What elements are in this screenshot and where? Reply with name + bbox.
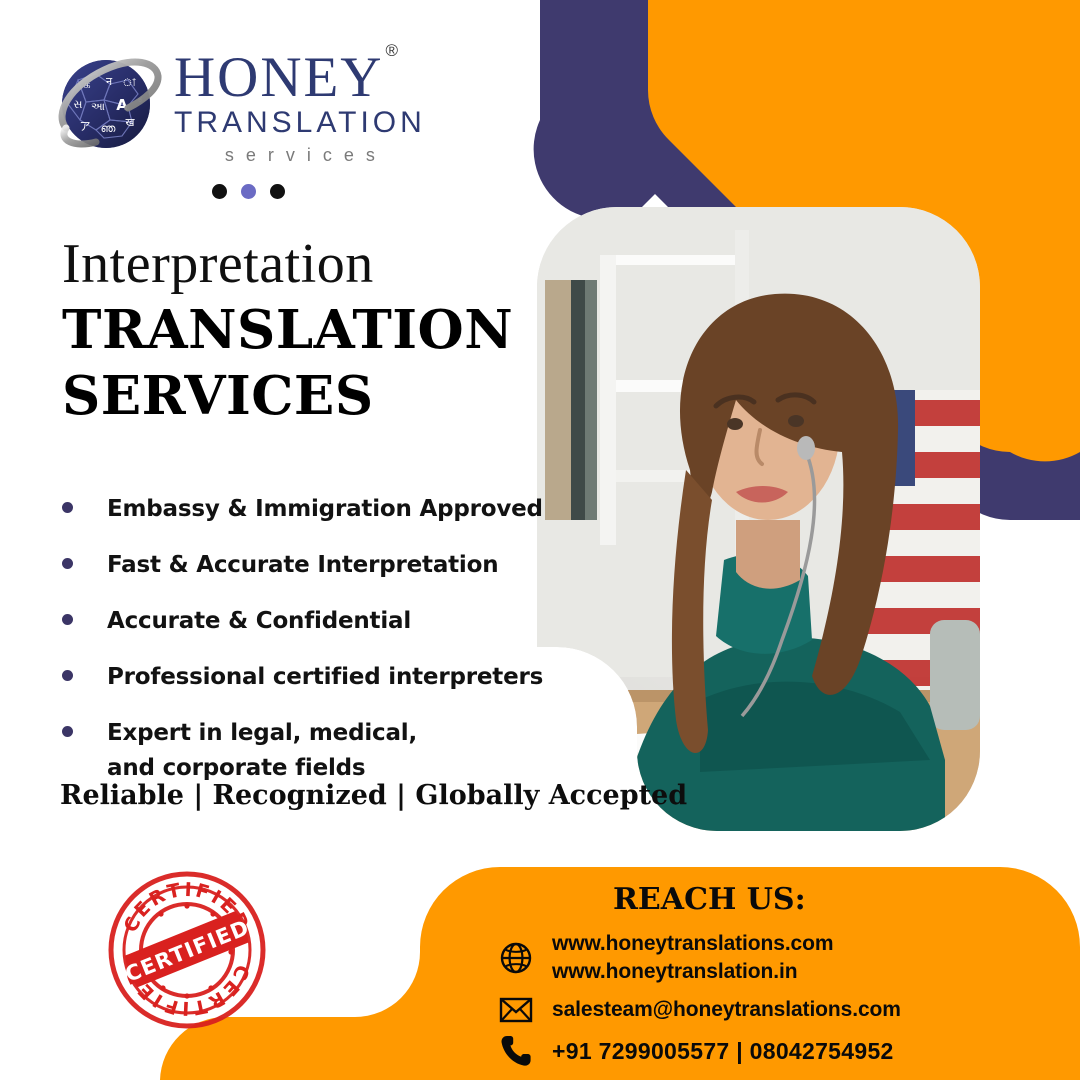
logo-name-secondary: TRANSLATION — [174, 106, 426, 140]
contact-row-website[interactable]: www.honeytranslations.com www.honeytrans… — [494, 930, 1054, 986]
email-address[interactable]: salesteam@honeytranslations.com — [552, 996, 901, 1024]
list-item-label: Expert in legal, medical, and corporate … — [107, 716, 447, 788]
hero-photo — [537, 207, 980, 831]
contact-details: www.honeytranslations.com www.honeytrans… — [494, 930, 1054, 1078]
purple-diagonal-band — [534, 0, 1080, 520]
feature-list: Embassy & Immigration Approved Fast & Ac… — [56, 492, 546, 807]
headline-main-line-1: TRANSLATION — [62, 298, 532, 364]
list-item: Fast & Accurate Interpretation — [56, 548, 546, 584]
headline-script-line: Interpretation — [62, 236, 532, 292]
registered-mark: ® — [385, 41, 398, 60]
poster-canvas: க न া સ આ A ಕ ア ഞ ख — [0, 0, 1080, 1080]
orange-top-shape — [648, 0, 1080, 461]
list-item: Embassy & Immigration Approved — [56, 492, 546, 528]
tagline: Reliable | Recognized | Globally Accepte… — [60, 780, 687, 811]
certified-stamp-icon: CERTIFIED CERTIFIED CERTIFIED — [103, 866, 271, 1034]
brand-logo[interactable]: க न া સ આ A ಕ ア ഞ ख — [52, 46, 472, 199]
svg-text:न: न — [106, 75, 113, 88]
globe-icon — [494, 941, 538, 975]
logo-name-primary: HONEY — [174, 46, 383, 109]
svg-text:આ: આ — [91, 100, 105, 113]
logo-name-tertiary: services — [174, 145, 426, 166]
headline-main-line-2: SERVICES — [62, 364, 532, 430]
logo-dot-2 — [241, 184, 256, 199]
logo-dot-row — [52, 184, 472, 199]
list-item: Accurate & Confidential — [56, 604, 546, 640]
list-item-label: Professional certified interpreters — [107, 660, 543, 696]
envelope-icon — [494, 996, 538, 1024]
contact-heading: REACH US: — [613, 882, 806, 917]
bullet-dot-icon — [62, 558, 73, 569]
list-item-label: Accurate & Confidential — [107, 604, 411, 640]
svg-text:સ: સ — [74, 98, 83, 111]
website-primary[interactable]: www.honeytranslations.com — [552, 932, 833, 955]
headline: Interpretation TRANSLATION SERVICES — [62, 236, 532, 429]
list-item: Expert in legal, medical, and corporate … — [56, 716, 546, 788]
svg-text:ア: ア — [80, 120, 91, 133]
svg-text:ഞ: ഞ — [101, 122, 116, 135]
bullet-dot-icon — [62, 502, 73, 513]
svg-text:া: া — [122, 76, 136, 89]
bullet-dot-icon — [62, 726, 73, 737]
bullet-dot-icon — [62, 670, 73, 681]
list-item-label: Embassy & Immigration Approved — [107, 492, 543, 528]
phone-icon — [494, 1034, 538, 1068]
website-secondary[interactable]: www.honeytranslation.in — [552, 960, 797, 983]
phone-numbers[interactable]: +91 7299005577 | 08042754952 — [552, 1036, 894, 1067]
list-item-label: Fast & Accurate Interpretation — [107, 548, 498, 584]
bullet-dot-icon — [62, 614, 73, 625]
logo-dot-1 — [212, 184, 227, 199]
contact-row-email[interactable]: salesteam@honeytranslations.com — [494, 996, 1054, 1024]
svg-text:ख: ख — [126, 116, 136, 129]
list-item: Professional certified interpreters — [56, 660, 546, 696]
logo-dot-3 — [270, 184, 285, 199]
contact-row-phone[interactable]: +91 7299005577 | 08042754952 — [494, 1034, 1054, 1068]
globe-languages-icon: க न া સ આ A ಕ ア ഞ ख — [52, 50, 164, 162]
